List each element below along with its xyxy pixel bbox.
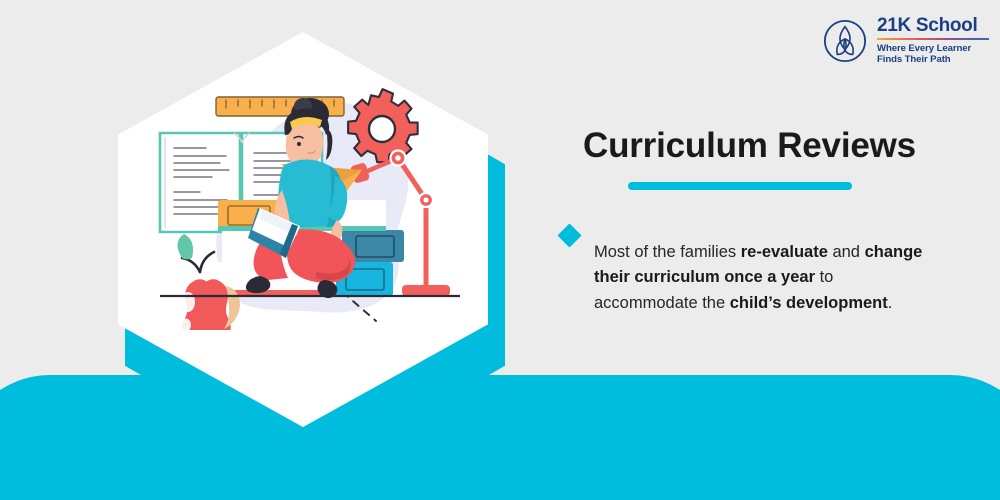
brand-logo[interactable]: 21K School Where Every Learner Finds The… [822,16,989,66]
brand-tagline-line2: Finds Their Path [877,54,989,66]
student-reading-on-books-illustration [130,40,480,330]
page-title: Curriculum Reviews [583,128,976,163]
title-underline-rule [628,182,852,190]
gear-icon [348,89,418,162]
brand-gradient-rule [877,38,989,40]
body-paragraph: Most of the families re-evaluate and cha… [594,240,939,317]
brand-tagline-line1: Where Every Learner [877,43,989,55]
text-content-block: Curriculum Reviews Most of the families … [556,128,976,333]
brand-logo-text: 21K School Where Every Learner Finds The… [877,16,989,66]
bottom-cyan-band-right [424,395,1000,500]
infographic-canvas: Curriculum Reviews Most of the families … [0,0,1000,500]
lotus-circle-icon [822,18,868,64]
brand-name: 21K School [877,16,989,36]
diamond-bullet-icon [557,223,581,247]
bullet-paragraph-row: Most of the families re-evaluate and cha… [556,223,976,333]
